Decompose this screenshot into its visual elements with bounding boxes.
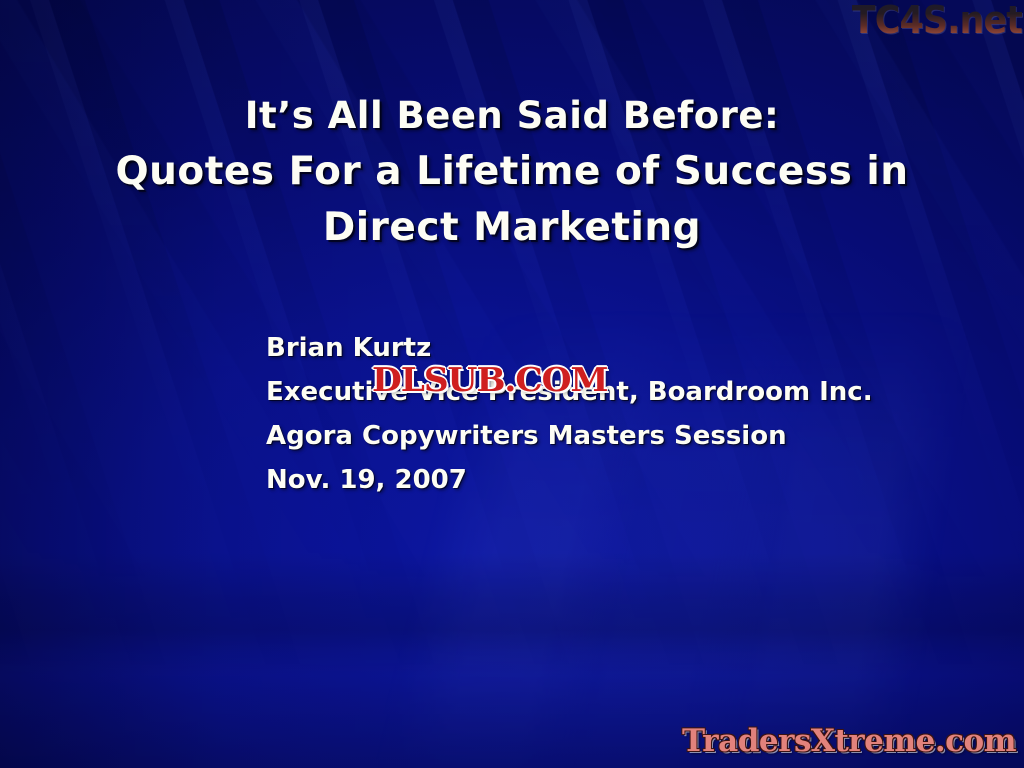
watermark-dlsub: DLSUB.COM bbox=[372, 360, 607, 400]
presentation-slide: It’s All Been Said Before: Quotes For a … bbox=[0, 0, 1024, 768]
watermark-tradersxtreme: TradersXtreme.com bbox=[682, 722, 1016, 760]
event-name: Agora Copywriters Masters Session bbox=[266, 414, 873, 458]
slide-title: It’s All Been Said Before: Quotes For a … bbox=[0, 88, 1024, 256]
title-line-2: Quotes For a Lifetime of Success in bbox=[0, 144, 1024, 200]
watermark-tc4s: TC4S.net bbox=[852, 0, 1022, 42]
presentation-date: Nov. 19, 2007 bbox=[266, 458, 873, 502]
slide-body: Brian Kurtz Executive Vice President, Bo… bbox=[266, 326, 873, 502]
title-line-1: It’s All Been Said Before: bbox=[0, 88, 1024, 144]
title-line-3: Direct Marketing bbox=[0, 200, 1024, 256]
